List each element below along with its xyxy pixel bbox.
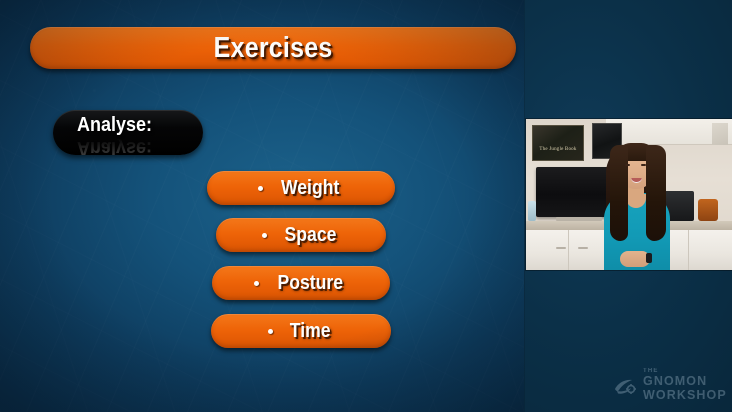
slide-title-pill: Exercises (30, 27, 516, 69)
bullet-pill-time: Time (211, 314, 391, 348)
bullet-label: Space (285, 224, 337, 247)
presentation-slide: Exercises Analyse: Analyse: Weight Space (0, 0, 524, 412)
presenter-video-panel: The Jungle Book (526, 119, 732, 270)
presenter-hair-right (646, 145, 666, 241)
slide-title-text: Exercises (214, 32, 333, 65)
bottle-object (528, 201, 536, 221)
watermark-text-block: THE GNOMON WORKSHOP (643, 368, 727, 401)
presenter-figure (596, 137, 676, 270)
section-label-stack: Analyse: Analyse: (77, 115, 160, 155)
bullet-row: Space (262, 224, 340, 247)
cabinet-handle (578, 247, 588, 249)
presenter-eye-right (641, 164, 646, 166)
bullet-dot-icon (262, 233, 267, 238)
bullet-dot-icon (254, 281, 259, 286)
wall-frame-right (712, 123, 728, 145)
presenter-wristwatch (646, 253, 652, 263)
section-label-reflection: Analyse: (77, 137, 152, 155)
section-label-text: Analyse: (77, 115, 152, 136)
cabinet-handle (556, 247, 566, 249)
bullet-dot-icon (268, 329, 273, 334)
bullet-label: Posture (278, 272, 344, 295)
shelf-object-orange (698, 199, 718, 221)
bullet-pill-space: Space (216, 218, 386, 252)
presenter-eye-left (625, 164, 630, 166)
bullet-row: Time (268, 320, 333, 343)
bullet-label: Weight (281, 177, 339, 200)
presenter-hair-left (610, 145, 628, 241)
watermark-workshop: WORKSHOP (643, 389, 727, 402)
gnomon-workshop-watermark: THE GNOMON WORKSHOP (612, 368, 727, 401)
bullet-dot-icon (258, 186, 263, 191)
bullet-row: Posture (254, 272, 347, 295)
cabinet-seam (688, 230, 689, 270)
video-player-frame: Exercises Analyse: Analyse: Weight Space (0, 0, 732, 412)
cabinet-seam (568, 230, 569, 270)
bullet-label: Time (290, 320, 331, 343)
section-label-pill: Analyse: Analyse: (53, 110, 203, 155)
bullet-row: Weight (258, 177, 343, 200)
bullet-pill-posture: Posture (212, 266, 390, 300)
gnomon-logo-icon (612, 374, 638, 396)
poster-title-text: The Jungle Book (537, 147, 579, 153)
wall-poster-jungle-book: The Jungle Book (532, 125, 584, 161)
bullet-pill-weight: Weight (207, 171, 395, 205)
watermark-gnomon: GNOMON (643, 375, 727, 388)
